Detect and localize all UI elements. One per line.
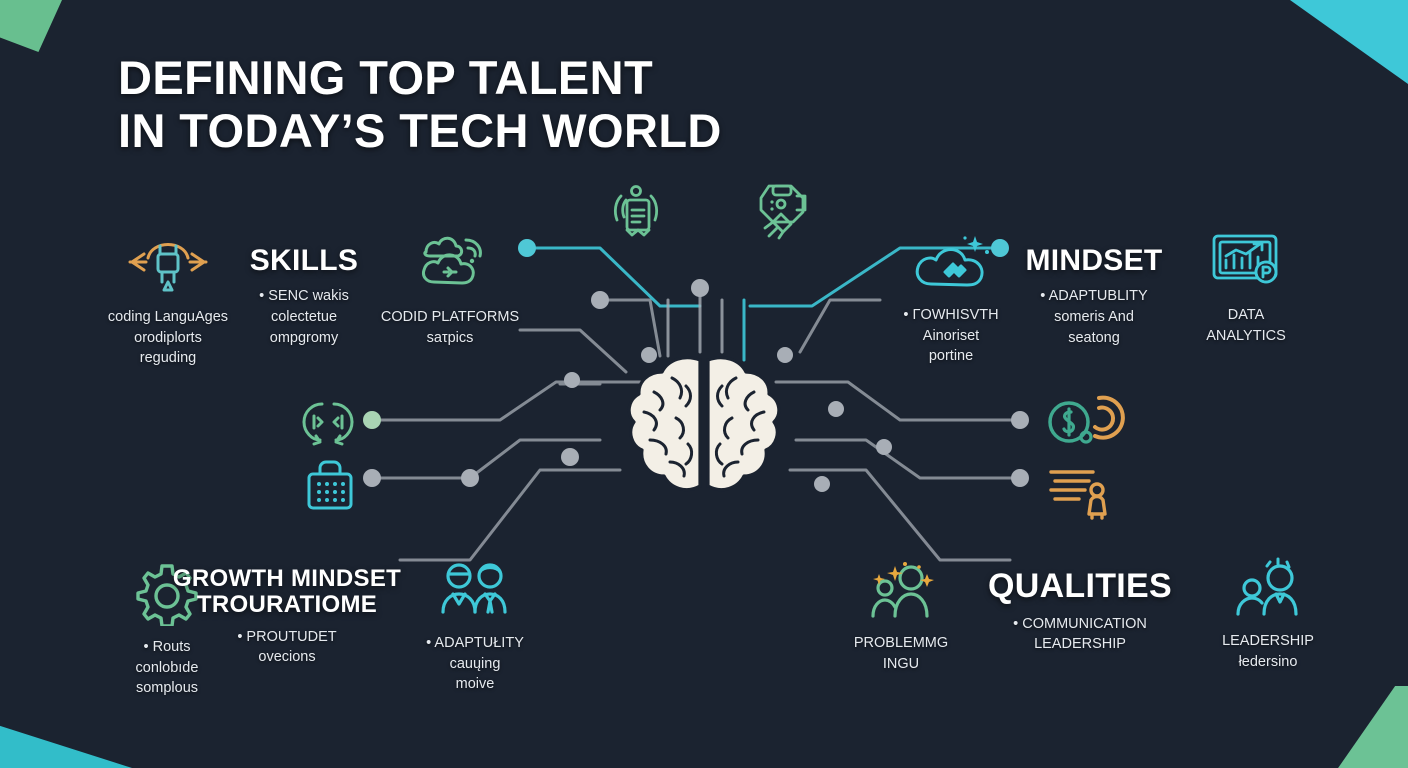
title-line-2: IN TODAY’S TECH WORLD xyxy=(118,105,722,158)
heading-skills-title: SKILLS xyxy=(212,245,396,277)
clipboard-icon xyxy=(598,180,674,247)
heading-growth-mindset-sub: • PROUTUDET ovecions xyxy=(172,627,402,668)
line: LEADERSHIP xyxy=(1198,631,1338,652)
heading-qualities: QUALITIES • COMMUNICATION LEADERSHIP xyxy=(960,568,1200,655)
heading-skills: SKILLS • SENC wakis colectetue ompgromy xyxy=(212,245,396,348)
item-data-analytics[interactable]: DATA ANALYTICS xyxy=(1178,228,1314,346)
line: seatong xyxy=(994,328,1194,349)
heading-growth-mindset-line2: TROURATIOME xyxy=(172,592,402,618)
line: moive xyxy=(400,674,550,695)
line: łedersino xyxy=(1198,652,1338,673)
heading-qualities-sub: • COMMUNICATION LEADERSHIP xyxy=(960,614,1200,655)
coin-target-icon xyxy=(1036,390,1128,459)
line: LEADERSHIP xyxy=(960,634,1200,655)
item-briefcase-grid[interactable] xyxy=(296,456,364,525)
item-leadership[interactable]: LEADERSHIP łedersino xyxy=(1198,556,1338,672)
heading-mindset-title: MINDSET xyxy=(994,245,1194,277)
heading-growth-mindset-line1: GROWTH MINDSET xyxy=(172,566,402,592)
item-rocket-launch[interactable] xyxy=(744,178,820,251)
line: DATA xyxy=(1178,305,1314,326)
refresh-cycle-icon xyxy=(290,396,366,457)
line: • PROUTUDET xyxy=(172,627,402,648)
rocket-icon xyxy=(744,178,820,245)
person-stars-icon xyxy=(836,558,966,627)
heading-mindset-sub: • ADAPTUBLITY someris And seatong xyxy=(994,286,1194,348)
line: • ADAPTUŁITY xyxy=(400,633,550,654)
leadership-icon xyxy=(1198,556,1338,625)
brain-icon xyxy=(614,352,794,502)
line: someris And xyxy=(994,307,1194,328)
line: somplous xyxy=(92,678,242,699)
line: ANALYTICS xyxy=(1178,326,1314,347)
line: • COMMUNICATION xyxy=(960,614,1200,635)
analytics-chart-icon xyxy=(1178,228,1314,299)
item-adaptability-people-lines: • ADAPTUŁITY cauųing moive xyxy=(400,633,550,695)
list-person-icon xyxy=(1038,460,1124,525)
line: ompgromy xyxy=(212,328,396,349)
item-adaptability-people[interactable]: • ADAPTUŁITY cauųing moive xyxy=(400,560,550,695)
item-problem-solving[interactable]: PROBLEMMG INGU xyxy=(836,558,966,674)
line: ovecions xyxy=(172,647,402,668)
two-people-icon xyxy=(400,560,550,627)
item-clipboard-doc[interactable] xyxy=(598,180,674,253)
line: INGU xyxy=(836,654,966,675)
briefcase-icon xyxy=(296,456,364,519)
item-list-person[interactable] xyxy=(1038,460,1124,531)
line: portine xyxy=(876,346,1026,367)
item-data-analytics-lines: DATA ANALYTICS xyxy=(1178,305,1314,346)
heading-skills-sub: • SENC wakis colectetue ompgromy xyxy=(212,286,396,348)
item-coin-target[interactable] xyxy=(1036,390,1128,465)
heading-qualities-title: QUALITIES xyxy=(960,568,1200,605)
heading-growth-mindset: GROWTH MINDSET TROURATIOME • PROUTUDET o… xyxy=(172,566,402,668)
line: reguding xyxy=(88,348,248,369)
item-sync-cycle[interactable] xyxy=(290,396,366,463)
heading-mindset: MINDSET • ADAPTUBLITY someris And seaton… xyxy=(994,245,1194,348)
page-title: DEFINING TOP TALENT IN TODAY’S TECH WORL… xyxy=(118,52,722,157)
line: PROBLEMMG xyxy=(836,633,966,654)
item-leadership-lines: LEADERSHIP łedersino xyxy=(1198,631,1338,672)
line: colectetue xyxy=(212,307,396,328)
item-problem-solving-lines: PROBLEMMG INGU xyxy=(836,633,966,674)
line: cauųing xyxy=(400,654,550,675)
title-line-1: DEFINING TOP TALENT xyxy=(118,52,722,105)
line: • SENC wakis xyxy=(212,286,396,307)
line: • ADAPTUBLITY xyxy=(994,286,1194,307)
